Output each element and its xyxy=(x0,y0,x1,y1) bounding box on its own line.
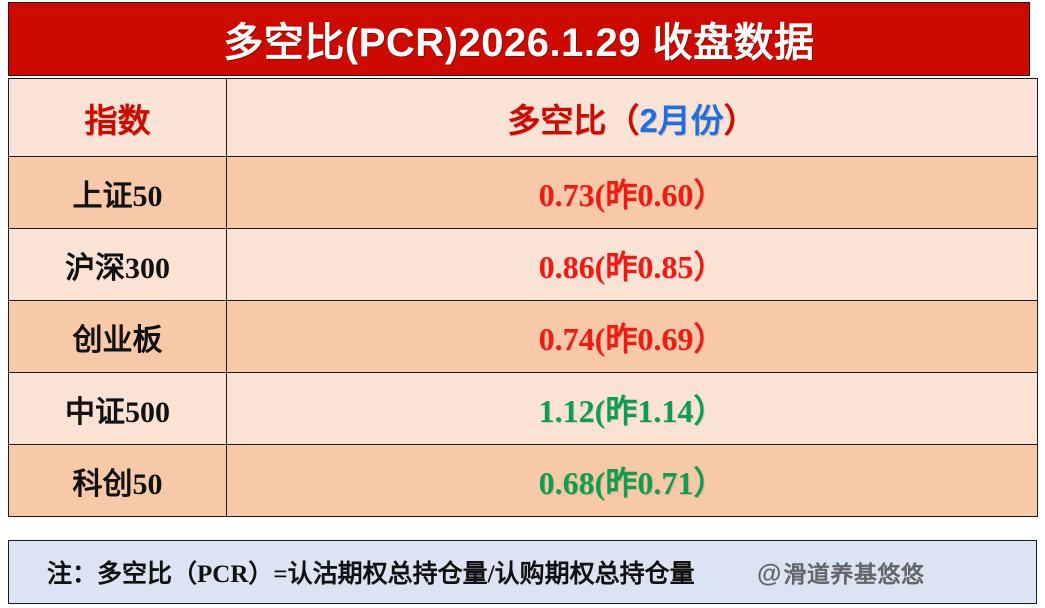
ratio-value: 0.73(昨0.60） xyxy=(539,177,726,213)
page-title: 多空比(PCR)2026.1.29 收盘数据 xyxy=(223,10,814,68)
ratio-value: 0.74(昨0.69） xyxy=(539,321,726,357)
cell-ratio-value: 0.68(昨0.71） xyxy=(227,445,1038,517)
footnote-bar: 注：多空比（PCR）=认沽期权总持仓量/认购期权总持仓量 xyxy=(8,540,1037,604)
table-row: 沪深300 0.86(昨0.85） xyxy=(9,229,1038,301)
footnote-text: 注：多空比（PCR）=认沽期权总持仓量/认购期权总持仓量 xyxy=(47,554,695,590)
table-row: 科创50 0.68(昨0.71） xyxy=(9,445,1038,517)
header-cell-ratio: 多空比（2月份） xyxy=(227,79,1038,157)
table-header-row: 指数 多空比（2月份） xyxy=(9,79,1038,157)
cell-index-name: 沪深300 xyxy=(9,229,227,301)
index-name: 科创50 xyxy=(73,468,163,501)
cell-index-name: 上证50 xyxy=(9,157,227,229)
cell-ratio-value: 0.86(昨0.85） xyxy=(227,229,1038,301)
cell-ratio-value: 0.74(昨0.69） xyxy=(227,301,1038,373)
cell-ratio-value: 0.73(昨0.60） xyxy=(227,157,1038,229)
table-row: 创业板 0.74(昨0.69） xyxy=(9,301,1038,373)
title-banner: 多空比(PCR)2026.1.29 收盘数据 xyxy=(8,2,1030,76)
index-name: 创业板 xyxy=(73,324,163,357)
index-name: 上证50 xyxy=(73,180,163,213)
cell-index-name: 科创50 xyxy=(9,445,227,517)
index-name: 沪深300 xyxy=(65,252,170,285)
header-ratio-prefix: 多空比（ xyxy=(507,102,639,139)
cell-index-name: 中证500 xyxy=(9,373,227,445)
ratio-value: 0.86(昨0.85） xyxy=(539,249,726,285)
header-ratio-month: 2月份 xyxy=(639,102,723,139)
table-row: 中证500 1.12(昨1.14） xyxy=(9,373,1038,445)
pcr-table-image: 多空比(PCR)2026.1.29 收盘数据 指数 多空比（2月份） 上证50 xyxy=(0,0,1045,608)
header-label-index: 指数 xyxy=(85,102,151,139)
header-cell-index: 指数 xyxy=(9,79,227,157)
header-ratio-suffix: ） xyxy=(724,102,757,139)
ratio-value: 0.68(昨0.71） xyxy=(539,465,726,501)
cell-index-name: 创业板 xyxy=(9,301,227,373)
table-row: 上证50 0.73(昨0.60） xyxy=(9,157,1038,229)
pcr-table: 指数 多空比（2月份） 上证50 0.73(昨0.60） 沪深300 xyxy=(8,78,1038,517)
cell-ratio-value: 1.12(昨1.14） xyxy=(227,373,1038,445)
header-label-ratio: 多空比（2月份） xyxy=(507,102,756,139)
index-name: 中证500 xyxy=(65,396,170,429)
ratio-value: 1.12(昨1.14） xyxy=(539,393,726,429)
